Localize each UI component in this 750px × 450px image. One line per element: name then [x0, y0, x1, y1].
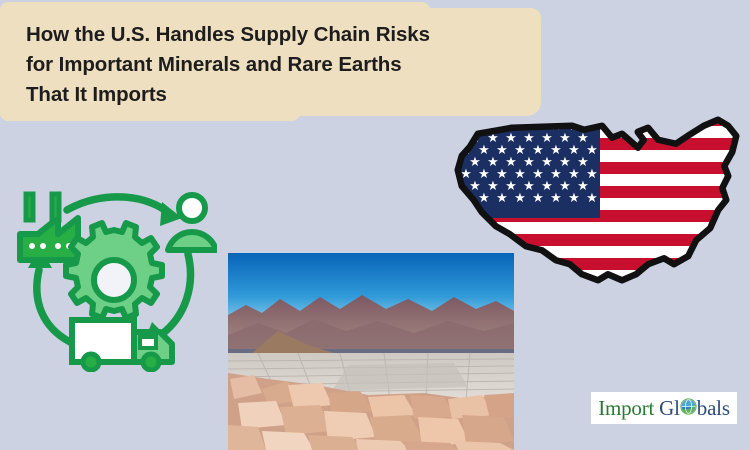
svg-text:★: ★ [460, 119, 472, 134]
map-flag-fill: ★★★★★★★★ ★★★★★★★ ★★★★★★★★ ★★★★★★★ ★★★★★★… [452, 114, 744, 286]
factory-icon [20, 194, 78, 260]
page-title-line-2: for Important Minerals and Rare Earths [26, 50, 546, 80]
svg-text:★: ★ [496, 191, 508, 206]
logo-text-import: Import [598, 398, 654, 419]
svg-text:★: ★ [550, 191, 562, 206]
logo-text-gl: Gl [659, 398, 680, 419]
factory-to-person-arrow-path [67, 197, 170, 214]
infographic-canvas: How the U.S. Handles Supply Chain Risks … [0, 0, 750, 450]
logo-text-bals: bals [697, 398, 730, 419]
gear-icon [66, 223, 162, 318]
person-icon [168, 195, 216, 250]
page-title-line-3: That It Imports [26, 80, 546, 110]
svg-text:★: ★ [568, 191, 580, 206]
photo-pit-bench [332, 363, 468, 391]
truck-to-factory-arrow-path [37, 270, 70, 342]
svg-text:★: ★ [514, 191, 526, 206]
page-title: How the U.S. Handles Supply Chain Risks … [26, 20, 546, 110]
svg-text:★: ★ [586, 191, 598, 206]
import-globals-logo[interactable]: Import Gl bals [591, 392, 737, 424]
supply-chain-cycle-illustration [12, 182, 217, 372]
globe-icon [680, 398, 697, 415]
person-to-truck-arrow-path [162, 254, 190, 334]
page-title-line-1: How the U.S. Handles Supply Chain Risks [26, 20, 546, 50]
united-states-flag-map: ★★★★★★★★ ★★★★★★★ ★★★★★★★★ ★★★★★★★ ★★★★★★… [452, 114, 744, 286]
svg-text:★: ★ [532, 191, 544, 206]
